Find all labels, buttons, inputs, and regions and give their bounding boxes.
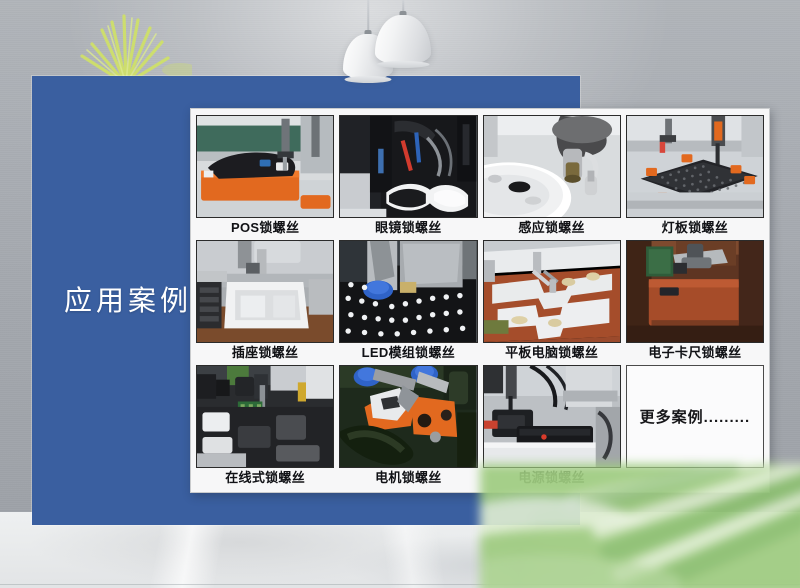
gallery-caption: 眼镜锁螺丝: [339, 218, 477, 238]
gallery-caption: 电源锁螺丝: [483, 468, 621, 488]
slide-stage: 应用案例: [0, 0, 800, 588]
gallery-cell-light-board[interactable]: 灯板锁螺丝: [626, 115, 764, 238]
gallery-caption: 灯板锁螺丝: [626, 218, 764, 238]
gallery-caption: 在线式锁螺丝: [196, 468, 334, 488]
gallery-caption: POS锁螺丝: [196, 218, 334, 238]
page-title: 应用案例: [64, 279, 192, 319]
gallery-cell-pos[interactable]: POS锁螺丝: [196, 115, 334, 238]
gallery-cell-motor[interactable]: 电机锁螺丝: [339, 365, 477, 488]
gallery-cell-caliper[interactable]: 电子卡尺锁螺丝: [626, 240, 764, 363]
gallery-caption: 电子卡尺锁螺丝: [626, 343, 764, 363]
thumbnail-led-module-screw-locking[interactable]: [339, 240, 477, 343]
thumbnail-power-supply-screw-locking[interactable]: [483, 365, 621, 468]
thumbnail-pos-terminal-screw-locking[interactable]: [196, 115, 334, 218]
thumbnail-tablet-pc-screw-locking[interactable]: [483, 240, 621, 343]
thumbnail-eyeglasses-screw-locking[interactable]: [339, 115, 477, 218]
gallery-cell-tablet[interactable]: 平板电脑锁螺丝: [483, 240, 621, 363]
gallery-cell-power-supply[interactable]: 电源锁螺丝: [483, 365, 621, 488]
gallery-cell-eyeglasses[interactable]: 眼镜锁螺丝: [339, 115, 477, 238]
case-gallery-card: POS锁螺丝: [190, 108, 770, 493]
thumbnail-motor-screw-locking[interactable]: [339, 365, 477, 468]
gallery-caption: 插座锁螺丝: [196, 343, 334, 363]
gallery-cell-led-module[interactable]: LED模组锁螺丝: [339, 240, 477, 363]
thumbnail-digital-caliper-screw-locking[interactable]: [626, 240, 764, 343]
gallery-caption: 电机锁螺丝: [339, 468, 477, 488]
more-cases-label: 更多案例.........: [640, 406, 751, 427]
gallery-cell-sensor[interactable]: 感应锁螺丝: [483, 115, 621, 238]
pendant-lamp-right-icon: [368, 0, 438, 66]
lamp-rim: [377, 61, 430, 68]
gallery-caption: LED模组锁螺丝: [339, 343, 477, 363]
gallery-cell-more-cases[interactable]: 更多案例.........: [626, 365, 764, 488]
gallery-caption: 平板电脑锁螺丝: [483, 343, 621, 363]
gallery-cell-socket[interactable]: 插座锁螺丝: [196, 240, 334, 363]
more-cases-panel[interactable]: 更多案例.........: [626, 365, 764, 468]
floor-baseboard-line: [0, 584, 800, 585]
lamp-shade: [375, 15, 431, 65]
thumbnail-socket-screw-locking[interactable]: [196, 240, 334, 343]
thumbnail-led-light-board-screw-locking[interactable]: [626, 115, 764, 218]
case-gallery-grid: POS锁螺丝: [196, 115, 764, 488]
thumbnail-inline-screw-locking[interactable]: [196, 365, 334, 468]
gallery-cell-inline[interactable]: 在线式锁螺丝: [196, 365, 334, 488]
thumbnail-sensor-screw-locking[interactable]: [483, 115, 621, 218]
lamp-rim: [345, 76, 392, 83]
gallery-caption: 感应锁螺丝: [483, 218, 621, 238]
